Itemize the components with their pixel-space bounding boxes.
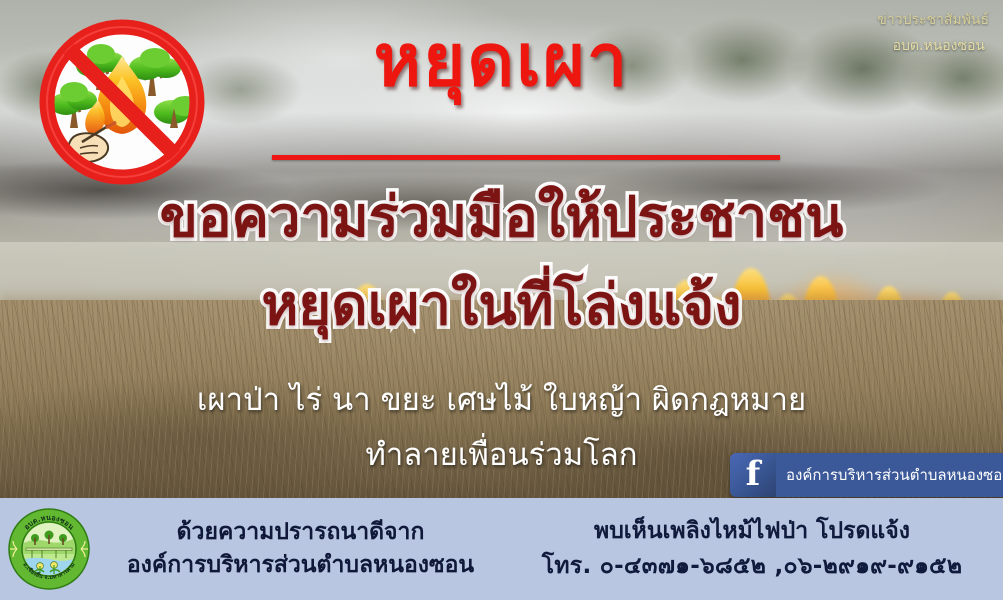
footer-phone-number: โทร. ๐-๔๓๗๑-๖๘๕๒ ,๐๖-๒๙๑๙-๙๑๕๒ xyxy=(501,552,1003,581)
red-divider xyxy=(272,155,780,160)
subdistrict-emblem-icon: อบต.หนองซอน อ.เชียงยืน จ.มหาสารคาม xyxy=(8,508,90,590)
footer-right-line-1: พบเห็นเพลิงไหม้ไฟป่า โปรดแจ้ง xyxy=(501,517,1003,546)
footer-left-line-1: ด้วยความปรารถนาดีจาก xyxy=(100,518,501,547)
sub-message-line-1: เผาป่า ไร่ นา ขยะ เศษไม้ ใบหญ้า ผิดกฎหมา… xyxy=(0,385,1003,416)
facebook-icon: f xyxy=(730,453,776,497)
main-message-line-2: หยุดเผาในที่โล่งแจ้ง xyxy=(0,278,1003,334)
facebook-f-glyph: f xyxy=(730,453,776,497)
facebook-page-badge[interactable]: f องค์การบริหารส่วนตำบลหนองซอน xyxy=(730,453,1003,497)
page-title: หยุดเผา xyxy=(0,24,1003,96)
poster-root: ข่าวประชาสัมพันธ์ อบต.หนองซอน หยุดเผา ขอ… xyxy=(0,0,1003,600)
footer-left-section: อบต.หนองซอน อ.เชียงยืน จ.มหาสารคาม ด้วยค… xyxy=(0,508,501,590)
facebook-page-name: องค์การบริหารส่วนตำบลหนองซอน xyxy=(776,453,1003,497)
footer-left-text: ด้วยความปรารถนาดีจาก องค์การบริหารส่วนตำ… xyxy=(100,518,501,580)
footer-bar: อบต.หนองซอน อ.เชียงยืน จ.มหาสารคาม ด้วยค… xyxy=(0,498,1003,600)
main-message-line-1: ขอความร่วมมือให้ประชาชน xyxy=(0,190,1003,246)
footer-right-section: พบเห็นเพลิงไหม้ไฟป่า โปรดแจ้ง โทร. ๐-๔๓๗… xyxy=(501,517,1003,581)
footer-left-line-2: องค์การบริหารส่วนตำบลหนองซอน xyxy=(100,551,501,580)
